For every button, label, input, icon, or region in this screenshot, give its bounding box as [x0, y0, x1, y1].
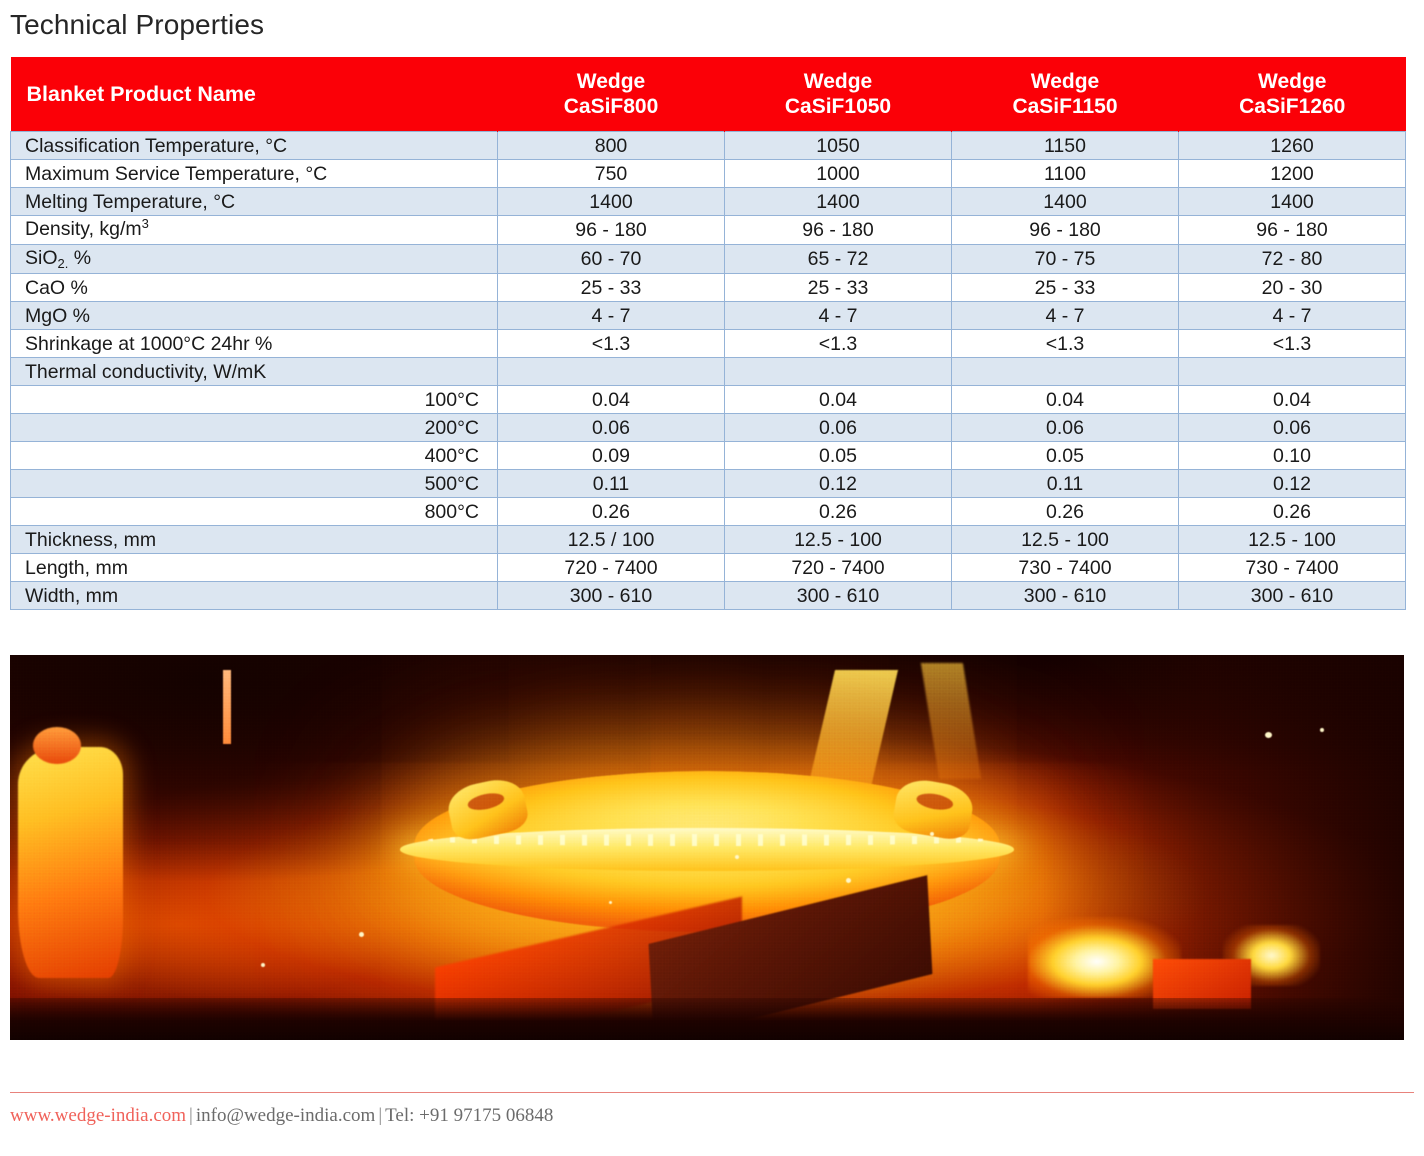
table-row: Width, mm300 - 610300 - 610300 - 610300 …	[11, 582, 1406, 610]
cell-value: 1050	[725, 132, 952, 160]
table-row: Length, mm720 - 7400720 - 7400730 - 7400…	[11, 554, 1406, 582]
cell-value: 730 - 7400	[952, 554, 1179, 582]
cell-value: 1150	[952, 132, 1179, 160]
cell-value: 1100	[952, 160, 1179, 188]
row-label: Shrinkage at 1000°C 24hr %	[11, 330, 498, 358]
foundry-photo	[10, 655, 1404, 1040]
cell-value: 800	[498, 132, 725, 160]
cell-value: 1200	[1179, 160, 1406, 188]
table-head: Blanket Product Name Wedge CaSiF800 Wedg…	[11, 57, 1406, 132]
cell-value: 0.06	[1179, 414, 1406, 442]
table-row: Classification Temperature, °C8001050115…	[11, 132, 1406, 160]
cell-value: 0.09	[498, 442, 725, 470]
cell-value: 4 - 7	[725, 302, 952, 330]
row-label: SiO2. %	[11, 245, 498, 274]
cell-value: 300 - 610	[498, 582, 725, 610]
table-header-row: Blanket Product Name Wedge CaSiF800 Wedg…	[11, 57, 1406, 132]
cell-value: 0.05	[725, 442, 952, 470]
cell-value: <1.3	[725, 330, 952, 358]
cell-value: 0.04	[952, 386, 1179, 414]
footer-email-link[interactable]: info@wedge-india.com	[196, 1105, 375, 1126]
table-row: 200°C0.060.060.060.06	[11, 414, 1406, 442]
row-label: 200°C	[11, 414, 498, 442]
row-label: CaO %	[11, 274, 498, 302]
row-label: Classification Temperature, °C	[11, 132, 498, 160]
cell-value: 25 - 33	[725, 274, 952, 302]
cell-value: 0.11	[952, 470, 1179, 498]
technical-properties-table: Blanket Product Name Wedge CaSiF800 Wedg…	[10, 57, 1406, 610]
document-page: Technical Properties Blanket Product Nam…	[0, 0, 1424, 1156]
header-cell-product-0: Wedge CaSiF800	[498, 57, 725, 132]
table-row: SiO2. %60 - 7065 - 7270 - 7572 - 80	[11, 245, 1406, 274]
cell-value: 25 - 33	[952, 274, 1179, 302]
footer-separator-2: |	[375, 1105, 385, 1126]
cell-value	[498, 358, 725, 386]
page-title: Technical Properties	[10, 8, 264, 42]
cell-value	[725, 358, 952, 386]
table-row: 500°C0.110.120.110.12	[11, 470, 1406, 498]
table-row: MgO %4 - 74 - 74 - 74 - 7	[11, 302, 1406, 330]
cell-value: 720 - 7400	[498, 554, 725, 582]
product-model-3: CaSiF1260	[1179, 94, 1406, 119]
cell-value: 12.5 - 100	[725, 526, 952, 554]
table-row: Maximum Service Temperature, °C750100011…	[11, 160, 1406, 188]
cell-value: 20 - 30	[1179, 274, 1406, 302]
cell-value: 0.11	[498, 470, 725, 498]
row-label: 100°C	[11, 386, 498, 414]
product-model-2: CaSiF1150	[952, 94, 1178, 119]
table-row: Shrinkage at 1000°C 24hr %<1.3<1.3<1.3<1…	[11, 330, 1406, 358]
row-label: Width, mm	[11, 582, 498, 610]
cell-value: 72 - 80	[1179, 245, 1406, 274]
product-brand-1: Wedge	[725, 69, 951, 94]
footer-separator-1: |	[186, 1105, 196, 1126]
footer-divider	[10, 1092, 1414, 1093]
cell-value: 4 - 7	[498, 302, 725, 330]
cell-value: 4 - 7	[1179, 302, 1406, 330]
row-label: MgO %	[11, 302, 498, 330]
photo-film-grain	[10, 655, 1404, 1040]
cell-value	[952, 358, 1179, 386]
row-label: Maximum Service Temperature, °C	[11, 160, 498, 188]
cell-value	[1179, 358, 1406, 386]
cell-value: 0.26	[498, 498, 725, 526]
cell-value: 0.04	[498, 386, 725, 414]
table-row: CaO %25 - 3325 - 3325 - 3320 - 30	[11, 274, 1406, 302]
cell-value: 0.12	[725, 470, 952, 498]
cell-value: 730 - 7400	[1179, 554, 1406, 582]
product-brand-3: Wedge	[1179, 69, 1406, 94]
table-row: 100°C0.040.040.040.04	[11, 386, 1406, 414]
product-model-0: CaSiF800	[498, 94, 724, 119]
cell-value: 60 - 70	[498, 245, 725, 274]
header-cell-product-1: Wedge CaSiF1050	[725, 57, 952, 132]
header-cell-blanket-product-name: Blanket Product Name	[11, 57, 498, 132]
cell-value: 0.05	[952, 442, 1179, 470]
row-label: Length, mm	[11, 554, 498, 582]
cell-value: 750	[498, 160, 725, 188]
cell-value: 1000	[725, 160, 952, 188]
cell-value: 300 - 610	[725, 582, 952, 610]
header-cell-product-2: Wedge CaSiF1150	[952, 57, 1179, 132]
cell-value: 720 - 7400	[725, 554, 952, 582]
cell-value: 0.12	[1179, 470, 1406, 498]
row-label: Thermal conductivity, W/mK	[11, 358, 498, 386]
cell-value: <1.3	[1179, 330, 1406, 358]
cell-value: 12.5 - 100	[1179, 526, 1406, 554]
cell-value: 0.06	[952, 414, 1179, 442]
product-brand-0: Wedge	[498, 69, 724, 94]
cell-value: 65 - 72	[725, 245, 952, 274]
cell-value: 0.10	[1179, 442, 1406, 470]
cell-value: 300 - 610	[1179, 582, 1406, 610]
product-brand-2: Wedge	[952, 69, 1178, 94]
cell-value: 1260	[1179, 132, 1406, 160]
cell-value: 1400	[725, 188, 952, 216]
footer-phone: Tel: +91 97175 06848	[385, 1105, 553, 1126]
cell-value: 0.26	[1179, 498, 1406, 526]
table-row: Melting Temperature, °C1400140014001400	[11, 188, 1406, 216]
cell-value: 96 - 180	[498, 216, 725, 245]
footer-contact-line: www.wedge-india.com|info@wedge-india.com…	[10, 1104, 553, 1128]
row-label: 800°C	[11, 498, 498, 526]
cell-value: 0.26	[725, 498, 952, 526]
cell-value: <1.3	[498, 330, 725, 358]
cell-value: <1.3	[952, 330, 1179, 358]
cell-value: 70 - 75	[952, 245, 1179, 274]
cell-value: 0.06	[725, 414, 952, 442]
cell-value: 96 - 180	[1179, 216, 1406, 245]
header-cell-product-3: Wedge CaSiF1260	[1179, 57, 1406, 132]
cell-value: 1400	[498, 188, 725, 216]
table-row: Thermal conductivity, W/mK	[11, 358, 1406, 386]
cell-value: 25 - 33	[498, 274, 725, 302]
table-body: Classification Temperature, °C8001050115…	[11, 132, 1406, 610]
cell-value: 0.04	[1179, 386, 1406, 414]
row-label: Melting Temperature, °C	[11, 188, 498, 216]
row-label: Density, kg/m3	[11, 216, 498, 245]
row-label: 500°C	[11, 470, 498, 498]
cell-value: 0.04	[725, 386, 952, 414]
cell-value: 0.26	[952, 498, 1179, 526]
table-row: Thickness, mm12.5 / 10012.5 - 10012.5 - …	[11, 526, 1406, 554]
cell-value: 4 - 7	[952, 302, 1179, 330]
row-label: 400°C	[11, 442, 498, 470]
cell-value: 1400	[952, 188, 1179, 216]
table-row: Density, kg/m396 - 18096 - 18096 - 18096…	[11, 216, 1406, 245]
product-model-1: CaSiF1050	[725, 94, 951, 119]
cell-value: 300 - 610	[952, 582, 1179, 610]
technical-properties-table-wrapper: Blanket Product Name Wedge CaSiF800 Wedg…	[10, 57, 1405, 610]
row-label: Thickness, mm	[11, 526, 498, 554]
cell-value: 1400	[1179, 188, 1406, 216]
footer-website-link[interactable]: www.wedge-india.com	[10, 1105, 186, 1126]
cell-value: 0.06	[498, 414, 725, 442]
cell-value: 96 - 180	[952, 216, 1179, 245]
table-row: 800°C0.260.260.260.26	[11, 498, 1406, 526]
cell-value: 96 - 180	[725, 216, 952, 245]
cell-value: 12.5 - 100	[952, 526, 1179, 554]
cell-value: 12.5 / 100	[498, 526, 725, 554]
table-row: 400°C0.090.050.050.10	[11, 442, 1406, 470]
